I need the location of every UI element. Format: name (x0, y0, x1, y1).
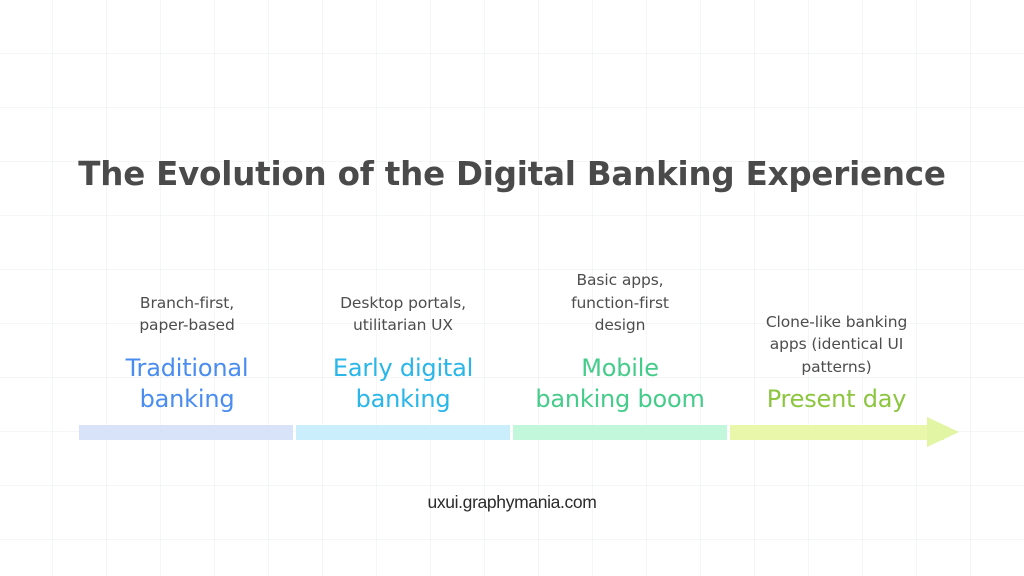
stage-description: Branch-first, paper-based (139, 292, 234, 337)
footer-url: uxui.graphymania.com (0, 492, 1024, 513)
timeline: Branch-first, paper-based Traditional ba… (79, 246, 945, 416)
arrow-head-icon (927, 417, 959, 447)
stage-description-line: utilitarian UX (340, 314, 466, 336)
stage-description-line: Desktop portals, (340, 292, 466, 314)
timeline-stage-1[interactable]: Branch-first, paper-based Traditional ba… (79, 292, 295, 416)
stage-description-line: design (571, 314, 669, 336)
stage-heading-line: Early digital (333, 353, 473, 385)
stage-heading: Early digital banking (333, 353, 473, 416)
timeline-stage-4[interactable]: Clone-like banking apps (identical UI pa… (728, 305, 945, 416)
timeline-stage-3[interactable]: Basic apps, function-first design Mobile… (512, 269, 728, 416)
stage-heading-line: Traditional (126, 353, 249, 385)
stage-description: Desktop portals, utilitarian UX (340, 292, 466, 337)
stage-heading-line: banking (333, 384, 473, 416)
stage-heading: Present day (767, 384, 907, 416)
stage-description: Clone-like banking apps (identical UI pa… (766, 311, 907, 378)
timeline-stage-2[interactable]: Desktop portals, utilitarian UX Early di… (295, 292, 511, 416)
stage-heading-line: banking (126, 384, 249, 416)
timeline-arrow-bar (79, 425, 945, 440)
stage-description-line: patterns) (766, 356, 907, 378)
stage-description: Basic apps, function-first design (571, 269, 669, 336)
stage-heading: Mobile banking boom (535, 353, 704, 416)
stage-description-line: apps (identical UI (766, 333, 907, 355)
stage-heading: Traditional banking (126, 353, 249, 416)
timeline-segment-1[interactable] (79, 425, 293, 440)
stage-description-line: function-first (571, 292, 669, 314)
timeline-segment-3[interactable] (513, 425, 727, 440)
timeline-segment-4[interactable] (730, 425, 944, 440)
stage-description-line: Branch-first, (139, 292, 234, 314)
page-title: The Evolution of the Digital Banking Exp… (0, 155, 1024, 193)
slide-canvas: The Evolution of the Digital Banking Exp… (0, 0, 1024, 576)
timeline-segment-2[interactable] (296, 425, 510, 440)
stage-description-line: paper-based (139, 314, 234, 336)
stage-description-line: Clone-like banking (766, 311, 907, 333)
stage-description-line: Basic apps, (571, 269, 669, 291)
stage-heading-line: Present day (767, 384, 907, 416)
stage-heading-line: banking boom (535, 384, 704, 416)
stage-heading-line: Mobile (535, 353, 704, 385)
